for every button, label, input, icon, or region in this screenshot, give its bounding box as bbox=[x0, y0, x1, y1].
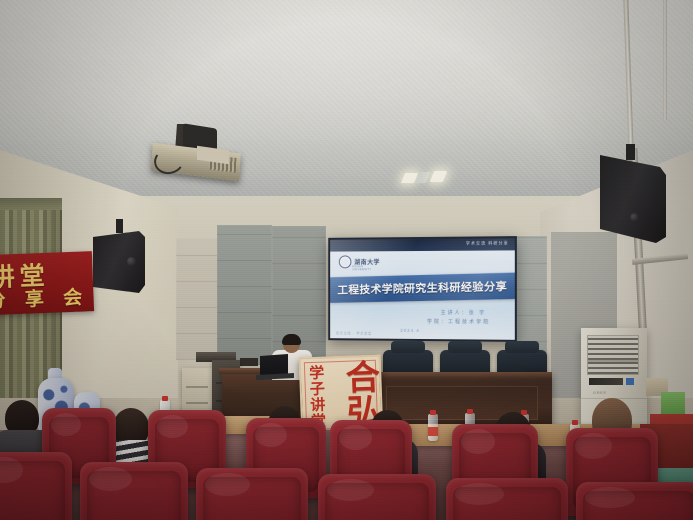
speaker-left-bracket bbox=[116, 219, 123, 233]
slide-footer: 研究生院 · 学术讲堂 bbox=[336, 330, 372, 335]
red-event-banner: 讲堂 分 享 会 bbox=[0, 251, 94, 315]
slide-presenter-line-2: 学院：工程技术学院 bbox=[427, 318, 490, 325]
slide-presenter-line-1: 主讲人：张 宇 bbox=[441, 309, 487, 316]
presenter-hair bbox=[282, 334, 301, 345]
ac-control-panel bbox=[589, 378, 623, 385]
seat-front-4 bbox=[318, 474, 436, 520]
speaker-left-cone bbox=[127, 257, 136, 266]
ac-lower-grill bbox=[587, 361, 639, 375]
seat-front-6 bbox=[576, 482, 693, 520]
ceiling-conduit-2 bbox=[663, 0, 667, 120]
sign-big-text: 合弘 bbox=[342, 359, 377, 428]
seat-front-1 bbox=[0, 452, 72, 520]
lecture-hall-photo: 讲堂 分 享 会 学术交流 科研分享 湖南大学 HUNAN UNIVERSITY… bbox=[0, 0, 693, 520]
university-seal-icon bbox=[339, 255, 352, 268]
water-bottle-2 bbox=[428, 414, 438, 441]
wall-speaker-left bbox=[93, 231, 145, 293]
seat-front-2 bbox=[80, 462, 188, 520]
projected-slide: 学术交流 科研分享 湖南大学 HUNAN UNIVERSITY 工程技术学院研究… bbox=[330, 238, 515, 340]
projection-screen: 学术交流 科研分享 湖南大学 HUNAN UNIVERSITY 工程技术学院研究… bbox=[328, 236, 517, 342]
slide-date: 2024.4 bbox=[400, 328, 420, 333]
slide-header-text: 学术交流 科研分享 bbox=[466, 240, 509, 246]
university-subtitle: HUNAN UNIVERSITY bbox=[352, 265, 380, 271]
banner-line-2: 分 享 会 bbox=[0, 282, 90, 313]
wall-speaker-right bbox=[600, 155, 666, 243]
ac-display-icon bbox=[626, 378, 634, 385]
seat-front-3 bbox=[196, 468, 308, 520]
av-device-2 bbox=[240, 358, 258, 366]
wall-panel-1 bbox=[217, 225, 272, 365]
seat-front-5 bbox=[446, 478, 568, 520]
curtain-rail bbox=[0, 198, 62, 210]
ac-brand-text: GREE bbox=[593, 390, 607, 395]
table-top-edge bbox=[372, 372, 552, 379]
speaker-right-bracket bbox=[626, 144, 635, 160]
wall-panel-4 bbox=[176, 238, 218, 360]
speaker-right-cone bbox=[630, 213, 639, 222]
ac-intake-grill bbox=[587, 335, 639, 361]
slide-header-bar: 学术交流 科研分享 bbox=[330, 238, 515, 251]
university-logo-block: 湖南大学 HUNAN UNIVERSITY bbox=[339, 255, 380, 268]
